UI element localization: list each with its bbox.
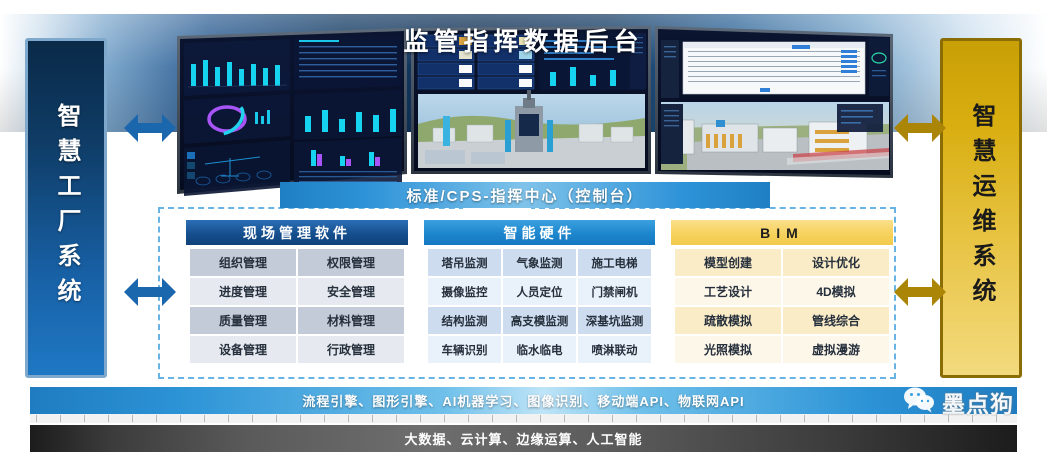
- sidebar-item-smart-factory[interactable]: 智慧工厂系统: [25, 38, 107, 378]
- module-cell[interactable]: 车辆识别: [428, 336, 501, 363]
- module-cell[interactable]: 设备管理: [190, 336, 296, 363]
- module-grid-hardware: 塔吊监测 气象监测 施工电梯 摄像监控 人员定位 门禁闸机 结构监测 高支模监测…: [424, 245, 655, 367]
- module-cell[interactable]: 进度管理: [190, 278, 296, 305]
- module-grid-site: 组织管理 权限管理 进度管理 安全管理 质量管理 材料管理 设备管理 行政管理: [186, 245, 408, 367]
- module-cell[interactable]: 气象监测: [503, 249, 576, 276]
- module-cell[interactable]: 材料管理: [298, 307, 404, 334]
- module-cell[interactable]: 质量管理: [190, 307, 296, 334]
- module-smart-hardware[interactable]: 智能硬件 塔吊监测 气象监测 施工电梯 摄像监控 人员定位 门禁闸机 结构监测 …: [424, 220, 655, 368]
- module-cell[interactable]: 高支模监测: [503, 307, 576, 334]
- module-cell[interactable]: 权限管理: [298, 249, 404, 276]
- module-cell[interactable]: 行政管理: [298, 336, 404, 363]
- module-site-management[interactable]: 现场管理软件 组织管理 权限管理 进度管理 安全管理 质量管理 材料管理 设备管…: [186, 220, 408, 368]
- right-panel-inner: 智慧运维系统: [943, 41, 1019, 375]
- control-center-label: 标准/CPS-指挥中心（控制台）: [280, 182, 770, 208]
- double-arrow-icon-left-bottom: [122, 272, 178, 312]
- module-grid-bim: 模型创建 设计优化 工艺设计 4D模拟 疏散模拟 管线综合 光照模拟 虚拟漫游: [671, 245, 893, 367]
- module-cell[interactable]: 摄像监控: [428, 278, 501, 305]
- sidebar-item-smart-ops[interactable]: 智慧运维系统: [940, 38, 1022, 378]
- module-header-bim: BIM: [671, 220, 893, 245]
- module-cell[interactable]: 疏散模拟: [675, 307, 781, 334]
- module-cell[interactable]: 组织管理: [190, 249, 296, 276]
- left-panel-label: 智慧工厂系统: [54, 103, 78, 313]
- right-panel-label: 智慧运维系统: [969, 103, 993, 313]
- page-title: 监管指挥数据后台: [0, 22, 1047, 58]
- module-cell[interactable]: 结构监测: [428, 307, 501, 334]
- module-cell[interactable]: 施工电梯: [578, 249, 651, 276]
- module-cell[interactable]: 设计优化: [783, 249, 889, 276]
- module-cell[interactable]: 塔吊监测: [428, 249, 501, 276]
- module-cell[interactable]: 管线综合: [783, 307, 889, 334]
- module-header-site: 现场管理软件: [186, 220, 408, 245]
- module-header-hardware: 智能硬件: [424, 220, 655, 245]
- module-cell[interactable]: 安全管理: [298, 278, 404, 305]
- platform-services-bar: 流程引擎、图形引擎、AI机器学习、图像识别、移动端API、物联网API: [30, 387, 1017, 414]
- infrastructure-bar: 大数据、云计算、边缘运算、人工智能: [30, 425, 1017, 452]
- module-bim[interactable]: BIM 模型创建 设计优化 工艺设计 4D模拟 疏散模拟 管线综合 光照模拟 虚…: [671, 220, 893, 368]
- left-panel-inner: 智慧工厂系统: [28, 41, 104, 375]
- module-cell[interactable]: 人员定位: [503, 278, 576, 305]
- poster-root: 监管指挥数据后台 标准/CPS-指挥中心（控制台） 智慧工厂系统 智慧运维系统 …: [0, 0, 1047, 456]
- module-cell[interactable]: 喷淋联动: [578, 336, 651, 363]
- double-arrow-icon-left-top: [122, 108, 178, 148]
- double-arrow-icon-right-bottom: [892, 272, 948, 312]
- module-cell[interactable]: 深基坑监测: [578, 307, 651, 334]
- tick-divider: [30, 414, 1017, 423]
- module-cell[interactable]: 光照模拟: [675, 336, 781, 363]
- module-cell[interactable]: 虚拟漫游: [783, 336, 889, 363]
- module-cell[interactable]: 临水临电: [503, 336, 576, 363]
- module-cell[interactable]: 模型创建: [675, 249, 781, 276]
- module-cell[interactable]: 4D模拟: [783, 278, 889, 305]
- double-arrow-icon-right-top: [892, 108, 948, 148]
- module-cell[interactable]: 工艺设计: [675, 278, 781, 305]
- module-cell[interactable]: 门禁闸机: [578, 278, 651, 305]
